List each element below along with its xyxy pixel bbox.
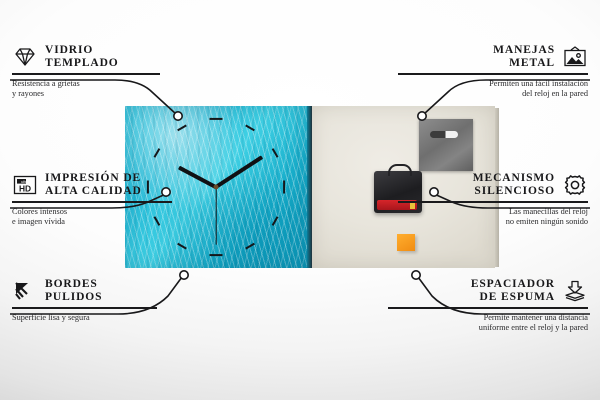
feature-heading: BORDES PULIDOS xyxy=(12,278,202,304)
ultra-hd-icon: ultra HD xyxy=(12,174,38,196)
clock-tick xyxy=(283,181,285,194)
feature-description: Permite mantener una distancia uniforme … xyxy=(388,313,588,334)
title-line: ALTA CALIDAD xyxy=(45,185,142,198)
divider xyxy=(398,73,588,75)
foam-spacer xyxy=(397,234,415,251)
clock-tick xyxy=(177,242,187,249)
feature-description: Superficie lisa y segura xyxy=(12,313,202,324)
feature-title: BORDES PULIDOS xyxy=(45,278,102,304)
feature-description: Las manecillas del reloj no emiten ningú… xyxy=(398,207,588,228)
feature-description: Colores intensos e imagen vívida xyxy=(12,207,212,228)
desc-line: uniforme entre el reloj y la pared xyxy=(388,323,588,334)
gear-icon xyxy=(562,174,588,196)
minute-hand xyxy=(215,155,263,188)
title-line: METAL xyxy=(493,57,555,70)
title-line: SILENCIOSO xyxy=(473,185,555,198)
picture-frame-hook-icon xyxy=(562,46,588,68)
feature-description: Resistencia a grietas y rayones xyxy=(12,79,202,100)
feature-espaciador-espuma: ESPACIADOR DE ESPUMA Permite mantener un… xyxy=(388,278,588,334)
clock-tick xyxy=(210,118,223,120)
title-line: PULIDOS xyxy=(45,291,102,304)
feature-heading: MECANISMO SILENCIOSO xyxy=(398,172,588,198)
metal-hanger-plate xyxy=(419,119,473,171)
feature-title: MANEJAS METAL xyxy=(493,44,555,70)
desc-line: Resistencia a grietas xyxy=(12,79,202,90)
clock-tick xyxy=(177,125,187,132)
arrow-down-layers-icon xyxy=(562,280,588,302)
feature-heading: MANEJAS METAL xyxy=(398,44,588,70)
title-line: BORDES xyxy=(45,278,102,291)
desc-line: Colores intensos xyxy=(12,207,212,218)
title-line: TEMPLADO xyxy=(45,57,119,70)
second-hand xyxy=(215,187,216,245)
feature-title: ESPACIADOR DE ESPUMA xyxy=(471,278,555,304)
infographic-canvas: VIDRIO TEMPLADO Resistencia a grietas y … xyxy=(0,0,600,400)
clock-tick xyxy=(271,148,278,158)
title-line: ESPACIADOR xyxy=(471,278,555,291)
divider xyxy=(388,307,588,309)
desc-line: no emiten ningún sonido xyxy=(398,217,588,228)
feature-heading: ESPACIADOR DE ESPUMA xyxy=(388,278,588,304)
feature-impresion-alta-calidad: ultra HD IMPRESIÓN DE ALTA CALIDAD Color… xyxy=(12,172,212,228)
clock-tick xyxy=(210,254,223,256)
title-line: MECANISMO xyxy=(473,172,555,185)
divider xyxy=(12,201,172,203)
feature-title: IMPRESIÓN DE ALTA CALIDAD xyxy=(45,172,142,198)
desc-line: Superficie lisa y segura xyxy=(12,313,202,324)
desc-line: Permite mantener una distancia xyxy=(388,313,588,324)
feature-heading: VIDRIO TEMPLADO xyxy=(12,44,202,70)
desc-line: y rayones xyxy=(12,89,202,100)
diamond-icon xyxy=(12,46,38,68)
divider xyxy=(12,307,157,309)
diagonal-lines-icon xyxy=(12,280,38,302)
feature-vidrio-templado: VIDRIO TEMPLADO Resistencia a grietas y … xyxy=(12,44,202,100)
clock-tick xyxy=(245,125,255,132)
desc-line: e imagen vívida xyxy=(12,217,212,228)
title-line: IMPRESIÓN DE xyxy=(45,172,142,185)
feature-manejas-metal: MANEJAS METAL Permiten una fácil instala… xyxy=(398,44,588,100)
clock-tick xyxy=(154,148,161,158)
feature-title: MECANISMO SILENCIOSO xyxy=(473,172,555,198)
clock-tick xyxy=(271,216,278,226)
divider xyxy=(12,73,160,75)
desc-line: Las manecillas del reloj xyxy=(398,207,588,218)
desc-line: Permiten una fácil instalación xyxy=(398,79,588,90)
hanger-slot xyxy=(430,131,458,138)
clock-tick xyxy=(245,242,255,249)
clock-hub xyxy=(214,185,219,190)
icon-label-main: HD xyxy=(19,183,31,193)
title-line: VIDRIO xyxy=(45,44,119,57)
title-line: DE ESPUMA xyxy=(471,291,555,304)
desc-line: del reloj en la pared xyxy=(398,89,588,100)
title-line: MANEJAS xyxy=(493,44,555,57)
feature-title: VIDRIO TEMPLADO xyxy=(45,44,119,70)
feature-heading: ultra HD IMPRESIÓN DE ALTA CALIDAD xyxy=(12,172,212,198)
divider xyxy=(398,201,588,203)
feature-mecanismo-silencioso: MECANISMO SILENCIOSO Las manecillas del … xyxy=(398,172,588,228)
feature-description: Permiten una fácil instalación del reloj… xyxy=(398,79,588,100)
feature-bordes-pulidos: BORDES PULIDOS Superficie lisa y segura xyxy=(12,278,202,323)
